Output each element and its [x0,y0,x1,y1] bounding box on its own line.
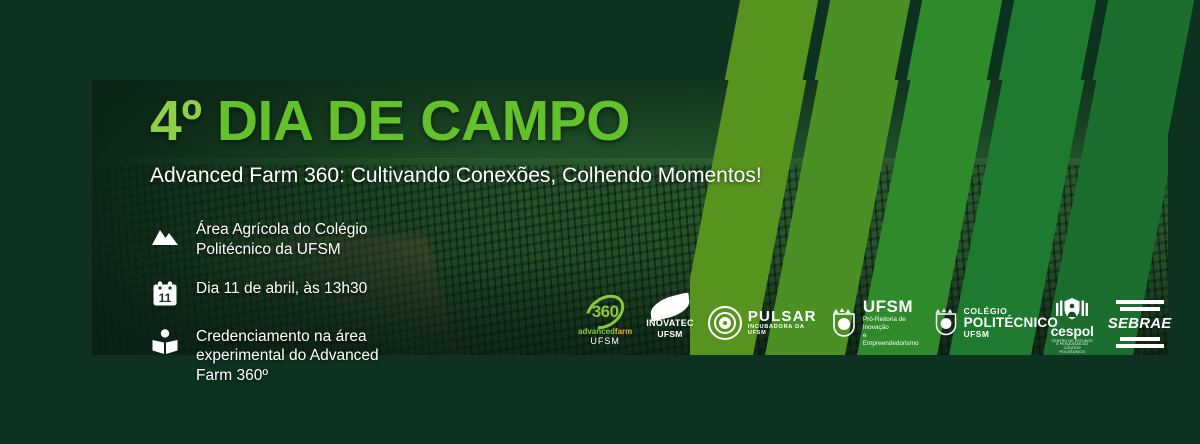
logo-sebrae: SEBRAE [1108,297,1172,349]
logo-pulsar-line2: INCUBADORA DA UFSM [748,325,817,337]
logo-cespol-line1: cespol [1051,324,1094,339]
logo-inovatec-ufsm: INOVATEC UFSM [646,297,694,349]
svg-text:11: 11 [159,291,172,305]
page-root: 4º DIA DE CAMPO Advanced Farm 360: Culti… [0,0,1200,444]
logo-politecnico-line2: POLITÉCNICO [964,316,1058,330]
logo-af-words: advancedfarm [578,328,632,336]
logo-politecnico-text: COLÉGIO POLITÉCNICO UFSM [964,307,1058,339]
sebrae-bars-icon-bottom [1116,334,1164,351]
logo-af-word-c: UFSM [590,337,620,346]
partner-logos-strip: 360 advancedfarm UFSM INOVATEC UFSM PULS… [578,294,1168,352]
pulsar-rings-icon [708,306,742,340]
logo-ufsm-proreitoria: UFSM Pró-Reitoria de Inovação e Empreend… [830,297,919,349]
sebrae-bars-icon-top [1116,297,1164,314]
logo-ufsm-line2: Pró-Reitoria de Inovação e Empreendedori… [863,316,919,348]
logo-cespol-line2: CENTRO DE ESTUDOS E PESQUISAS DO COLÉGIO… [1051,340,1094,355]
logo-inovatec-line2: UFSM [657,330,682,339]
logo-pulsar-line1: PULSAR [748,309,817,325]
logo-sebrae-line1: SEBRAE [1108,316,1172,332]
logo-politecnico-line3: UFSM [964,330,1058,339]
info-item-registration-text: Credenciamento na área experimental do A… [196,327,379,386]
logo-pulsar: PULSAR INCUBADORA DA UFSM [708,297,816,349]
logo-af-word-b: farm [615,327,632,336]
open-book-person-icon [150,328,180,356]
title-main: DIA DE CAMPO [217,89,630,153]
logo-ufsm-line1: UFSM [863,298,919,316]
logo-advanced-farm-360: 360 advancedfarm UFSM [578,297,632,349]
cespol-shield-icon [1054,297,1090,323]
logo-colegio-politecnico: COLÉGIO POLITÉCNICO UFSM [933,297,1037,349]
calendar-icon: 11 [150,280,180,308]
mountain-icon [150,221,180,249]
logo-cespol: cespol CENTRO DE ESTUDOS E PESQUISAS DO … [1051,297,1094,349]
politecnico-crest-icon [933,307,959,339]
title-ordinal: 4º [150,89,202,153]
info-item-location-text: Área Agrícola do Colégio Politécnico da … [196,220,367,260]
info-item-date-text: Dia 11 de abril, às 13h30 [196,279,367,299]
page-title: 4º DIA DE CAMPO [150,92,710,152]
advanced-farm-360-icon: 360 [584,297,626,327]
logo-pulsar-text: PULSAR INCUBADORA DA UFSM [748,309,817,336]
ufsm-crest-icon [830,306,858,340]
logo-ufsm-text: UFSM Pró-Reitoria de Inovação e Empreend… [863,298,919,348]
info-item-location: Área Agrícola do Colégio Politécnico da … [150,220,710,260]
page-subtitle: Advanced Farm 360: Cultivando Conexões, … [150,164,710,188]
